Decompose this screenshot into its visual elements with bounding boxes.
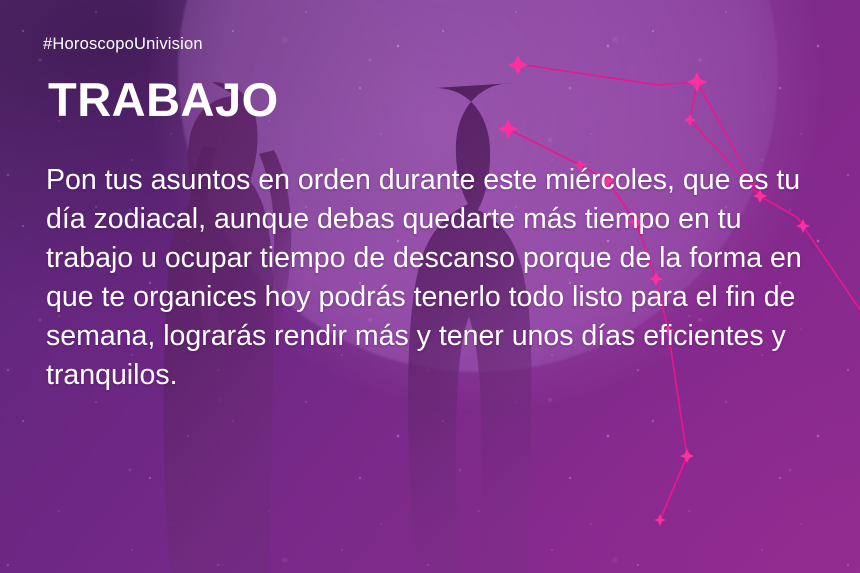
content-area: #HoroscopoUnivision TRABAJO Pon tus asun… <box>0 0 860 573</box>
page-title: TRABAJO <box>48 76 820 123</box>
horoscope-card: #HoroscopoUnivision TRABAJO Pon tus asun… <box>0 0 860 573</box>
horoscope-body-text: Pon tus asuntos en orden durante este mi… <box>46 161 820 395</box>
hashtag-label: #HoroscopoUnivision <box>43 35 820 54</box>
